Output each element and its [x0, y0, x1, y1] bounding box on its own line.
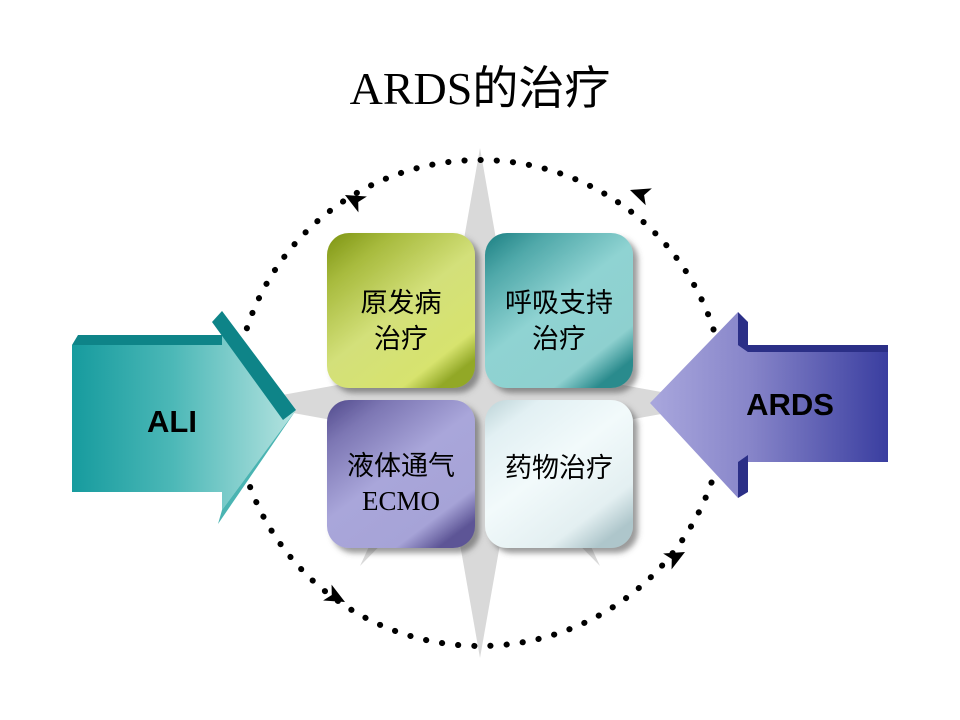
box-drug-therapy-line1: 药物治疗: [505, 453, 613, 483]
ali-arrow-label: ALI: [147, 404, 197, 439]
ards-arrow-label: ARDS: [746, 387, 834, 422]
slide-canvas: ARDS的治疗: [0, 0, 960, 720]
box-respiratory-support-line1: 呼吸支持: [505, 288, 613, 318]
cycle-arrowhead-bottom-left: [323, 585, 349, 610]
box-drug-therapy[interactable]: 药物治疗: [485, 400, 633, 548]
box-primary-disease[interactable]: 原发病 治疗: [327, 233, 475, 388]
cycle-arrowhead-bottom-right: [663, 544, 689, 569]
box-primary-disease-line2: 治疗: [374, 324, 428, 354]
ards-arrow[interactable]: ARDS: [650, 312, 888, 498]
cycle-arrowhead-top-right: [627, 182, 652, 206]
ali-arrow[interactable]: ALI: [72, 311, 296, 524]
ards-treatment-diagram: ALI ARDS 原发病 治疗 呼吸支持 治疗 液体通气 ECMO: [0, 0, 960, 720]
box-respiratory-support[interactable]: 呼吸支持 治疗: [485, 233, 633, 388]
box-primary-disease-line1: 原发病: [361, 288, 442, 318]
box-respiratory-support-line2: 治疗: [532, 324, 586, 354]
box-liquid-ventilation-line2: ECMO: [362, 486, 440, 516]
box-liquid-ventilation-line1: 液体通气: [347, 451, 455, 481]
box-liquid-ventilation[interactable]: 液体通气 ECMO: [327, 400, 475, 548]
